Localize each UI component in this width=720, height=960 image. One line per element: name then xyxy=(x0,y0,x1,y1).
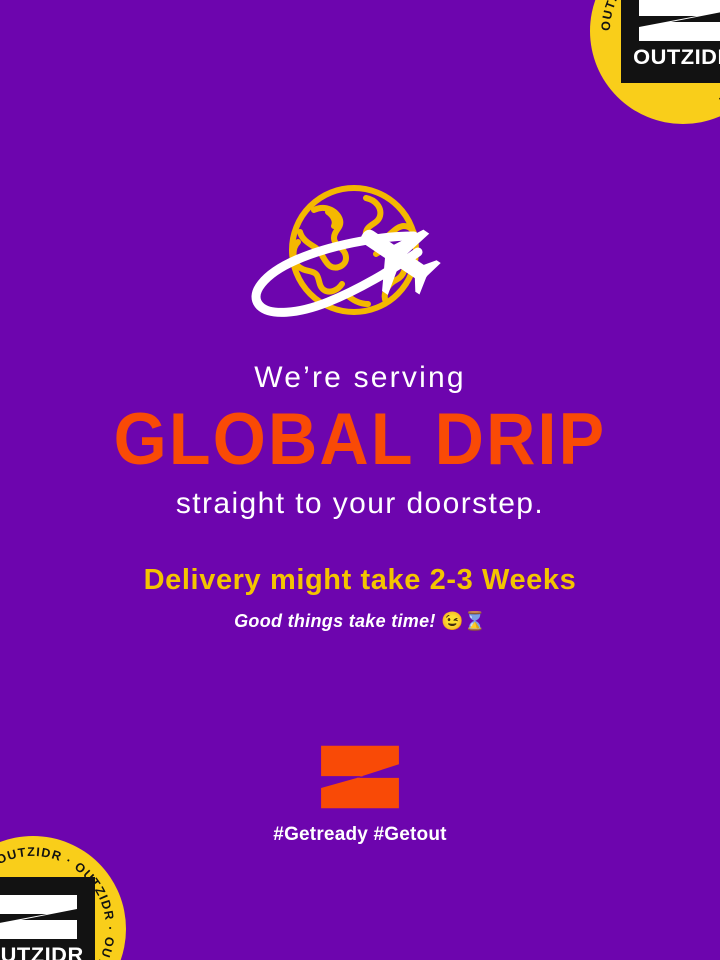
footer-block: #Getready #Getout xyxy=(0,744,720,846)
headline-global-drip: GLOBAL DRIP xyxy=(0,404,720,477)
wink-hourglass-emoji: 😉⌛ xyxy=(441,611,486,631)
good-things-text: Good things take time! xyxy=(234,611,436,631)
tagline-doorstep: straight to your doorstep. xyxy=(0,487,720,521)
delivery-notice: Delivery might take 2-3 Weeks xyxy=(0,564,720,597)
brand-badge-top-right: OUTZIDR · OUTZIDR · OUTZIDR · OUTZIDR · … xyxy=(590,0,720,124)
outzidr-z-logo-icon xyxy=(319,744,401,810)
copy-block: We’re serving GLOBAL DRIP straight to yo… xyxy=(0,362,720,632)
badge-core-bottom-left: OUTZIDR xyxy=(0,877,95,960)
tagline-serving: We’re serving xyxy=(0,362,720,394)
globe-with-airplane-icon xyxy=(242,178,478,334)
badge-core-top-right: OUTZIDR xyxy=(621,0,720,83)
good-things-note: Good things take time! 😉⌛ xyxy=(0,611,720,632)
badge-core-label: OUTZIDR xyxy=(0,945,83,960)
badge-z-icon xyxy=(0,892,81,942)
poster-canvas: OUTZIDR · OUTZIDR · OUTZIDR · OUTZIDR · … xyxy=(0,0,720,960)
badge-z-icon xyxy=(635,0,720,44)
badge-core-label: OUTZIDR xyxy=(633,47,720,68)
brand-badge-bottom-left: OUTZIDR · OUTZIDR · OUTZIDR · OUTZIDR · … xyxy=(0,836,126,960)
